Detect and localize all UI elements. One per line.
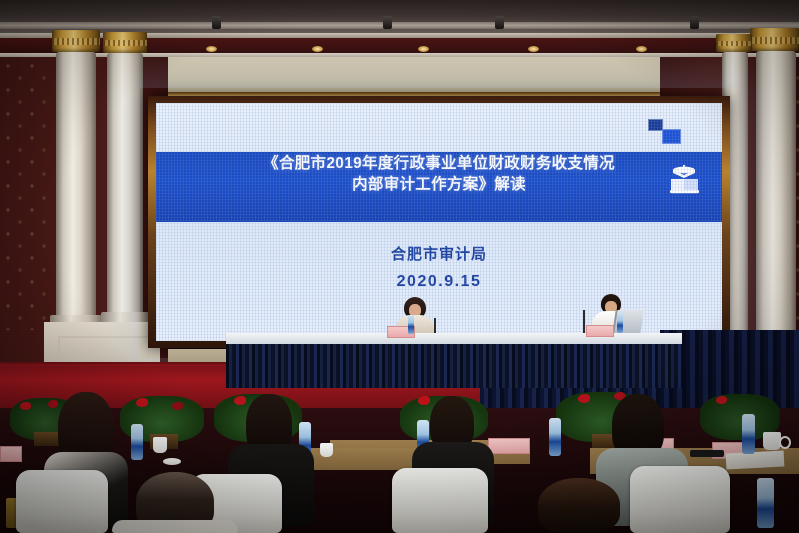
- column-shaft: [756, 51, 796, 343]
- water-bottle: [757, 478, 774, 528]
- water-bottle: [131, 424, 143, 460]
- slide-subtitle: 合肥市审计局: [156, 243, 722, 264]
- slide-date: 2020.9.15: [156, 273, 722, 291]
- downlight: [206, 46, 217, 52]
- slide-title-line2: 内部审计工作方案》解读: [156, 174, 722, 195]
- downlight: [528, 46, 539, 52]
- chair[interactable]: [392, 468, 488, 533]
- ceiling-rail: [0, 22, 799, 29]
- presenter-nameplate: [586, 325, 614, 337]
- downlight: [636, 46, 647, 52]
- ceiling: [0, 0, 799, 36]
- column-capital: [750, 28, 799, 51]
- ceiling-light-fixture: [212, 16, 221, 29]
- downlight: [312, 46, 323, 52]
- column-capital: [716, 34, 752, 52]
- column-shaft: [107, 53, 143, 317]
- water-bottle: [408, 315, 414, 334]
- teacup: [153, 437, 167, 453]
- teacup: [320, 443, 333, 457]
- column-capital: [103, 32, 147, 53]
- wall-damask-pattern: [2, 60, 54, 330]
- column-shaft: [56, 52, 96, 320]
- ceiling-light-fixture: [690, 16, 699, 29]
- downlight: [418, 46, 429, 52]
- audience-nameplate: [488, 438, 530, 454]
- ceiling-light-fixture: [495, 16, 504, 29]
- teacup-handle: [779, 436, 791, 449]
- microphone-stem: [583, 310, 585, 334]
- decor-square-dark: [648, 119, 663, 131]
- chair[interactable]: [630, 466, 730, 533]
- led-screen[interactable]: 《合肥市2019年度行政事业单位财政财务收支情况 内部审计工作方案》解读 合肥市…: [156, 103, 722, 341]
- phone: [690, 450, 724, 457]
- book-icon: [664, 163, 704, 197]
- document-papers: [726, 450, 785, 469]
- water-bottle: [549, 418, 561, 456]
- slide-title: 《合肥市2019年度行政事业单位财政财务收支情况 内部审计工作方案》解读: [156, 153, 722, 195]
- microphone-stem: [434, 318, 436, 334]
- slide-title-line1: 《合肥市2019年度行政事业单位财政财务收支情况: [263, 155, 615, 172]
- ceiling-light-fixture: [383, 16, 392, 29]
- chair[interactable]: [16, 470, 108, 533]
- audience-nameplate: [0, 446, 22, 462]
- water-bottle: [742, 414, 755, 454]
- teacup-lid: [163, 458, 181, 465]
- water-bottle: [617, 313, 623, 333]
- head-table-skirt: [226, 344, 682, 388]
- decor-square-light: [662, 129, 681, 144]
- conference-room-photo: 《合肥市2019年度行政事业单位财政财务收支情况 内部审计工作方案》解读 合肥市…: [0, 0, 799, 533]
- column-capital: [52, 30, 100, 52]
